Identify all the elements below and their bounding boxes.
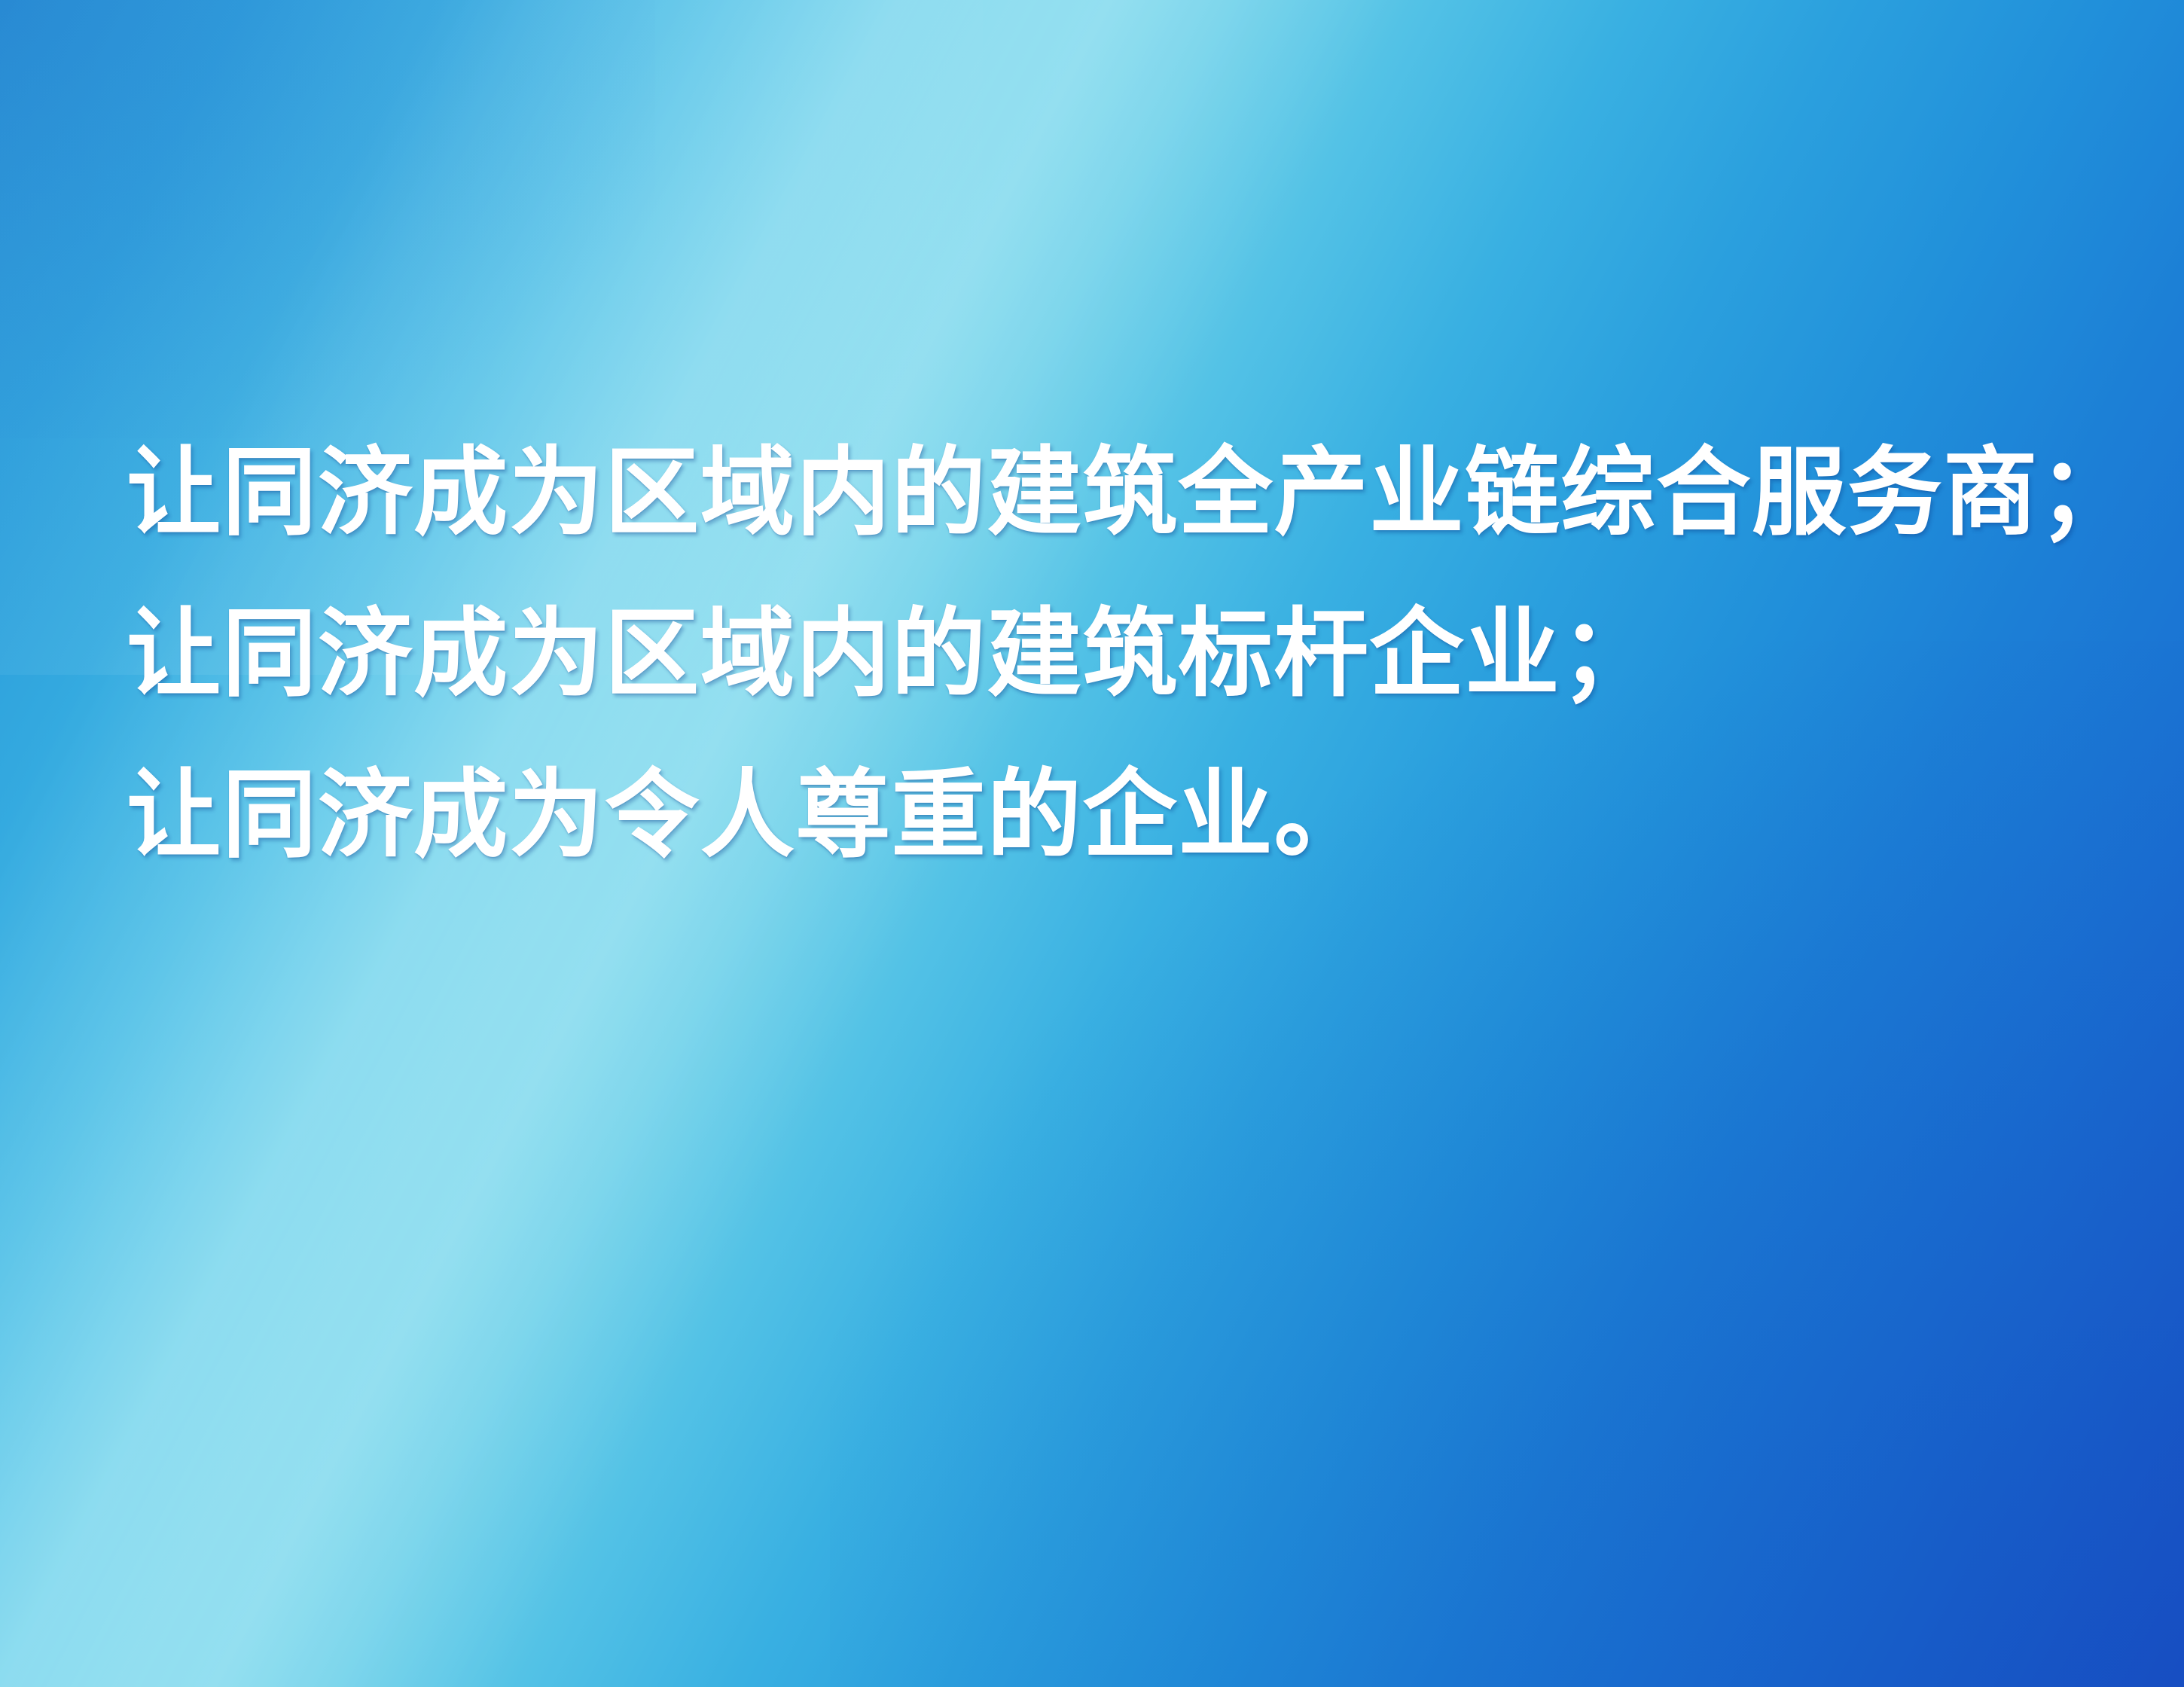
slide-text-line-1: 让同济成为区域内的建筑全产业链综合服务商； (127, 444, 2054, 541)
slide-text-line-2: 让同济成为区域内的建筑标杆企业； (127, 606, 2054, 702)
background-vignette-top-left (0, 0, 655, 438)
slide-text-block: 让同济成为区域内的建筑全产业链综合服务商； 让同济成为区域内的建筑标杆企业； 让… (127, 444, 2094, 863)
slide-text-line-3: 让同济成为令人尊重的企业。 (127, 767, 2054, 863)
presentation-slide: 让同济成为区域内的建筑全产业链综合服务商； 让同济成为区域内的建筑标杆企业； 让… (0, 0, 2184, 1687)
